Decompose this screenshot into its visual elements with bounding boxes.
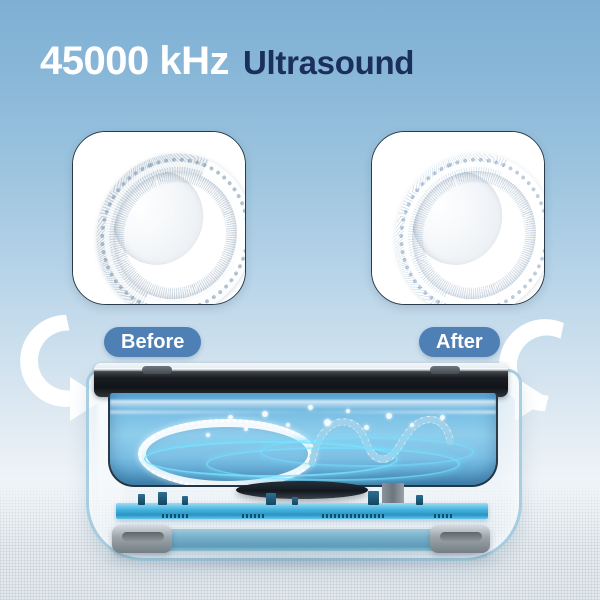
- device-lid: [94, 363, 508, 397]
- rubber-foot-left: [112, 525, 172, 553]
- base-plate: [120, 529, 482, 551]
- before-photo-card: [72, 131, 246, 305]
- ultrasonic-wave-ring: [260, 437, 474, 467]
- title-technology: Ultrasound: [243, 44, 414, 81]
- bubble: [410, 423, 414, 427]
- bubble: [228, 415, 233, 420]
- ultrasonic-transducer-disc: [236, 481, 368, 499]
- bubble: [386, 413, 392, 419]
- after-ring-image: [372, 132, 544, 304]
- before-ring-image: [73, 132, 245, 304]
- pcb-control-board: [116, 503, 488, 519]
- bubble: [244, 427, 248, 431]
- title-frequency: 45000 kHz: [40, 39, 229, 83]
- pcb-component: [292, 497, 298, 505]
- ring-band: [374, 131, 545, 305]
- pcb-component: [368, 491, 379, 505]
- bubble: [262, 411, 268, 417]
- device-drop-shadow: [104, 552, 500, 570]
- ultrasonic-jewelry-cleaner: [86, 363, 516, 568]
- pcb-component: [266, 493, 276, 505]
- pcb-solder-pads: [162, 514, 188, 518]
- bubble: [346, 409, 350, 413]
- pcb-component: [158, 492, 167, 505]
- before-badge: Before: [104, 327, 201, 357]
- pcb-solder-pads: [322, 514, 384, 518]
- bubble: [324, 419, 331, 426]
- bubble: [440, 415, 445, 420]
- page-title: 45000 kHzUltrasound: [40, 41, 414, 81]
- bubble: [206, 433, 210, 437]
- product-feature-image: 45000 kHzUltrasound Before After: [0, 0, 600, 600]
- bubble: [364, 425, 369, 430]
- lid-hinge-tab-left: [142, 366, 172, 374]
- bubble: [286, 423, 290, 427]
- rubber-foot-right: [430, 525, 490, 553]
- after-badge: After: [419, 327, 500, 357]
- water-tank: [108, 393, 498, 487]
- ring-band: [75, 131, 246, 305]
- bubble: [308, 405, 313, 410]
- lid-hinge-tab-right: [430, 366, 460, 374]
- pcb-component: [416, 495, 423, 505]
- pcb-solder-pads: [434, 514, 452, 518]
- after-photo-card: [371, 131, 545, 305]
- pcb-component: [138, 494, 145, 505]
- pcb-component: [182, 496, 188, 505]
- pcb-solder-pads: [242, 514, 264, 518]
